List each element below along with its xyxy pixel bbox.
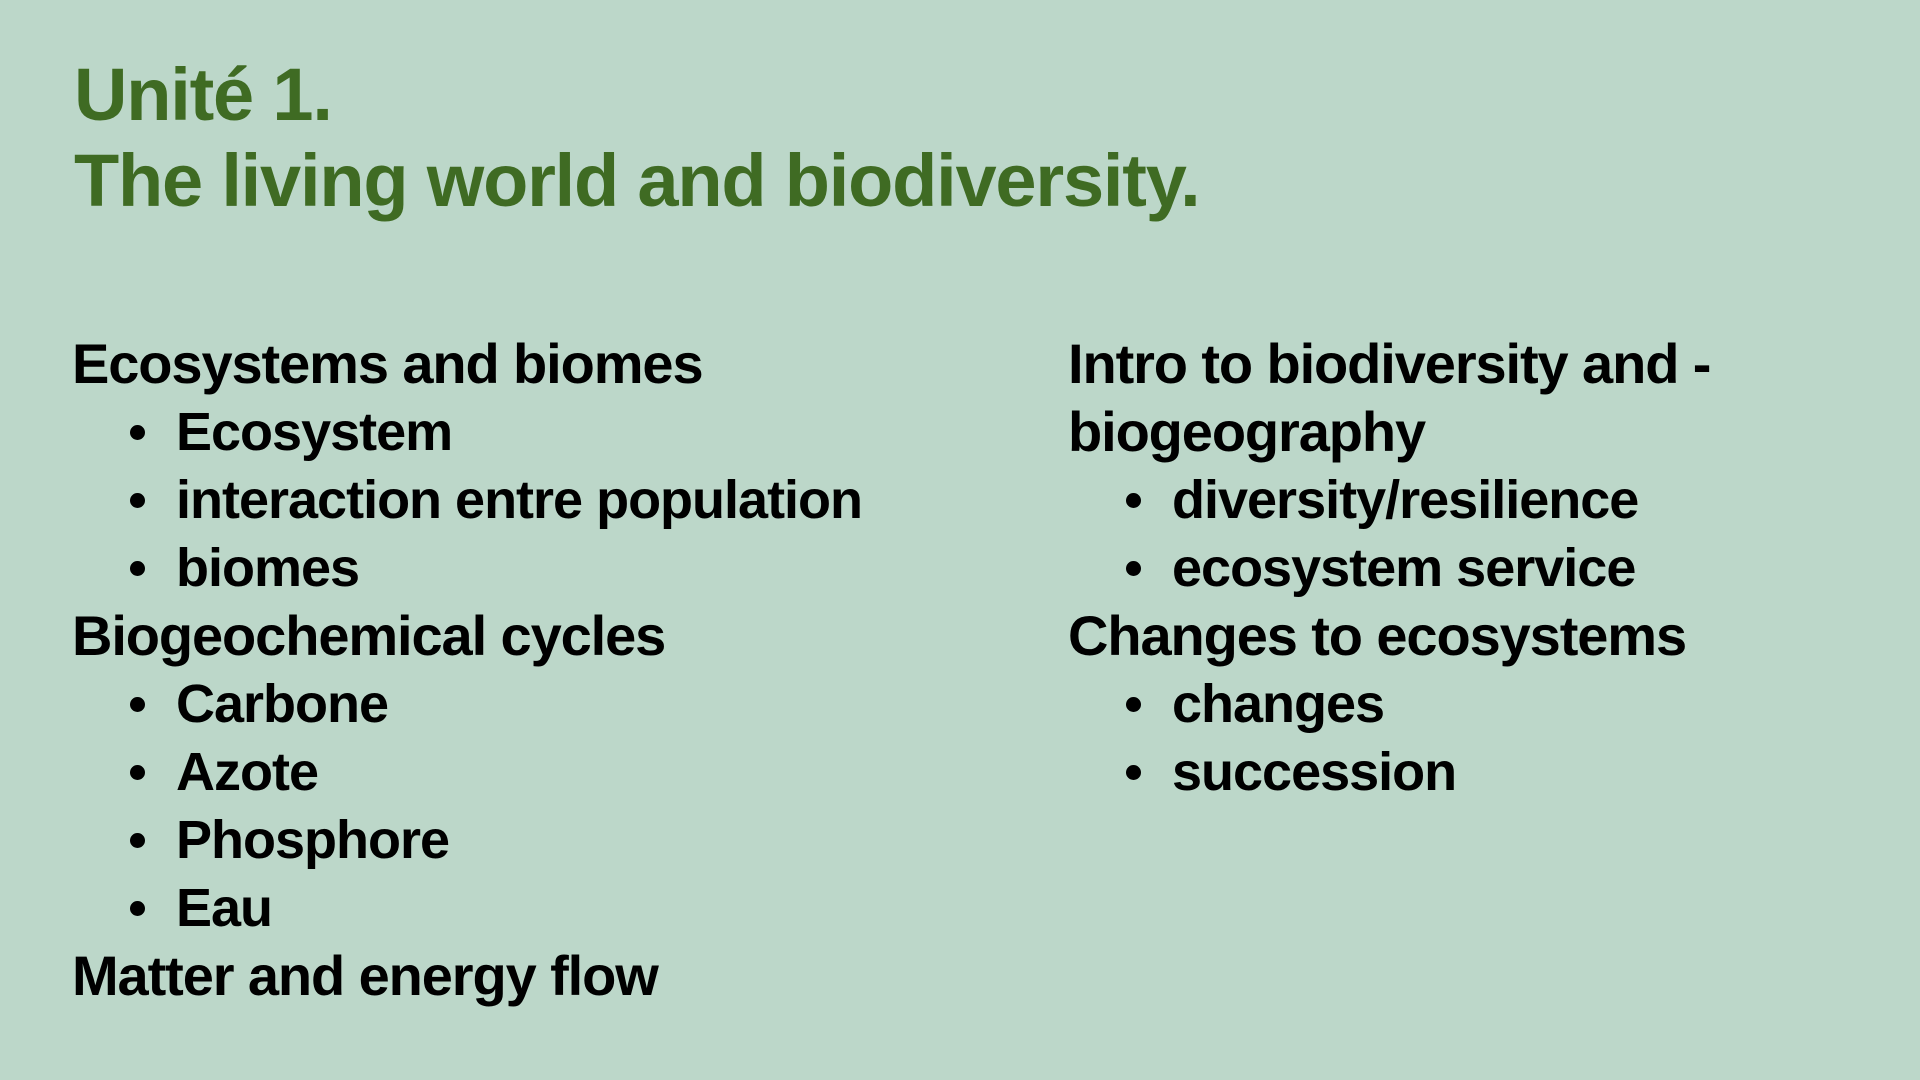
bullet-dot-icon	[130, 765, 145, 780]
list-item: Eau	[72, 874, 862, 942]
list-item-label: Azote	[176, 742, 318, 802]
list-item: Azote	[72, 738, 862, 806]
bullet-dot-icon	[130, 901, 145, 916]
bullet-list: Ecosysteminteraction entre populationbio…	[72, 398, 862, 602]
list-item: Phosphore	[72, 806, 862, 874]
bullet-list: CarboneAzotePhosphoreEau	[72, 670, 862, 942]
title-line-2: The living world and biodiversity.	[74, 138, 1574, 224]
bullet-dot-icon	[130, 425, 145, 440]
bullet-dot-icon	[130, 833, 145, 848]
list-item: succession	[1068, 738, 1888, 806]
group-header: Biogeochemical cycles	[72, 602, 862, 670]
slide-title: Unité 1. The living world and biodiversi…	[74, 52, 1574, 224]
bullet-dot-icon	[1126, 697, 1141, 712]
bullet-dot-icon	[130, 561, 145, 576]
list-item-label: biomes	[176, 538, 359, 598]
content-column-right: Intro to biodiversity and -biogeographyd…	[1068, 330, 1888, 806]
list-item-label: Eau	[176, 878, 272, 938]
bullet-list: diversity/resilienceecosystem service	[1068, 466, 1888, 602]
content-columns: Ecosystems and biomesEcosysteminteractio…	[0, 330, 1920, 1030]
list-item: Carbone	[72, 670, 862, 738]
group-header: Intro to biodiversity and -biogeography	[1068, 330, 1888, 466]
content-group: Changes to ecosystemschangessuccession	[1068, 602, 1888, 806]
list-item: diversity/resilience	[1068, 466, 1888, 534]
list-item-label: succession	[1172, 742, 1456, 802]
list-item: ecosystem service	[1068, 534, 1888, 602]
content-group: Matter and energy flow	[72, 942, 862, 1010]
bullet-dot-icon	[1126, 561, 1141, 576]
list-item: Ecosystem	[72, 398, 862, 466]
list-item-label: interaction entre population	[176, 470, 862, 530]
bullet-list: changessuccession	[1068, 670, 1888, 806]
content-group: Ecosystems and biomesEcosysteminteractio…	[72, 330, 862, 602]
list-item-label: Carbone	[176, 674, 388, 734]
bullet-dot-icon	[1126, 493, 1141, 508]
content-column-left: Ecosystems and biomesEcosysteminteractio…	[72, 330, 862, 1010]
group-header: Matter and energy flow	[72, 942, 862, 1010]
bullet-dot-icon	[130, 493, 145, 508]
list-item-label: diversity/resilience	[1172, 470, 1638, 530]
content-group: Biogeochemical cyclesCarboneAzotePhospho…	[72, 602, 862, 942]
list-item-label: Phosphore	[176, 810, 449, 870]
slide-canvas: Unité 1. The living world and biodiversi…	[0, 0, 1920, 1080]
list-item: interaction entre population	[72, 466, 862, 534]
bullet-dot-icon	[1126, 765, 1141, 780]
list-item-label: changes	[1172, 674, 1384, 734]
title-line-1: Unité 1.	[74, 52, 1574, 138]
list-item: biomes	[72, 534, 862, 602]
list-item: changes	[1068, 670, 1888, 738]
list-item-label: Ecosystem	[176, 402, 452, 462]
list-item-label: ecosystem service	[1172, 538, 1635, 598]
content-group: Intro to biodiversity and -biogeographyd…	[1068, 330, 1888, 602]
bullet-dot-icon	[130, 697, 145, 712]
group-header: Changes to ecosystems	[1068, 602, 1888, 670]
group-header: Ecosystems and biomes	[72, 330, 862, 398]
